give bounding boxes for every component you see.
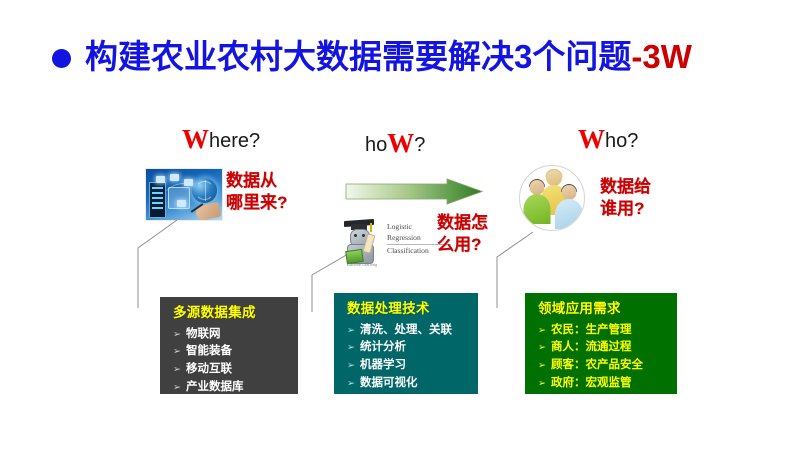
arrow-bullet-icon: ➢ — [347, 343, 355, 353]
list-item-label: 政府：宏观监管 — [551, 375, 632, 393]
page-title: 构建农业农村大数据需要解决3个问题-3W — [52, 40, 692, 73]
ml-caption: Machine Learning — [337, 263, 387, 267]
data-node-icon — [184, 179, 193, 186]
ml-term-logistic: Logistic — [387, 222, 412, 231]
list-item: ➢政府：宏观监管 — [538, 375, 666, 393]
callout-where: 数据从 哪里来? — [226, 170, 287, 214]
title-text: 构建农业农村大数据需要解决3个问题-3W — [85, 40, 692, 73]
list-item-label: 数据可视化 — [360, 375, 418, 393]
list-item: ➢产业数据库 — [173, 379, 287, 397]
arrow-bullet-icon: ➢ — [538, 343, 546, 353]
who-rest: ho? — [605, 130, 638, 152]
arrow-bullet-icon: ➢ — [347, 361, 355, 371]
callout-how-line2: 么用? — [437, 234, 488, 256]
list-item: ➢商人：流通过程 — [538, 339, 666, 357]
list-item: ➢物联网 — [173, 326, 287, 344]
list-item-label: 智能装备 — [186, 343, 232, 361]
list-item-label: 顾客：农产品安全 — [551, 357, 643, 375]
list-item: ➢移动互联 — [173, 361, 287, 379]
ml-term-classification: Classification — [387, 246, 429, 255]
box-data-processing-tech: 数据处理技术 ➢清洗、处理、关联 ➢统计分析 ➢机器学习 ➢数据可视化 — [334, 293, 478, 394]
avatar — [524, 180, 550, 222]
callout-how-line1: 数据怎 — [437, 212, 488, 234]
green-gradient-arrow — [345, 178, 483, 205]
list-item: ➢统计分析 — [347, 339, 467, 357]
title-main: 构建农业农村大数据需要解决3个问题 — [85, 38, 631, 75]
users-avatar-group — [519, 165, 585, 231]
list-item-label: 统计分析 — [360, 339, 406, 357]
list-item: ➢智能装备 — [173, 343, 287, 361]
list-item-label: 产业数据库 — [186, 379, 244, 397]
robot-eye — [354, 234, 357, 237]
data-node-icon — [156, 176, 165, 183]
graduate-robot-icon — [339, 220, 381, 265]
server-rack-icon — [149, 182, 166, 218]
arrow-bullet-icon: ➢ — [347, 379, 355, 389]
robot-eye — [362, 234, 365, 237]
list-item-label: 清洗、处理、关联 — [360, 322, 452, 340]
how-big-w: W — [387, 128, 414, 158]
data-node-icon — [177, 200, 186, 207]
label-how: hoW? — [365, 130, 425, 157]
how-prefix: ho — [365, 134, 387, 156]
list-item: ➢农民：生产管理 — [538, 322, 666, 340]
callout-where-line2: 哪里来? — [226, 192, 287, 214]
list-item: ➢顾客：农产品安全 — [538, 357, 666, 375]
avatar-head — [562, 185, 577, 200]
globe-icon — [192, 178, 217, 203]
box-sources-list: ➢物联网 ➢智能装备 ➢移动互联 ➢产业数据库 — [173, 326, 287, 396]
bullet-icon — [52, 49, 71, 68]
machine-learning-image: Machine Learning Logistic Regression Cla… — [337, 219, 450, 269]
box-process-title: 数据处理技术 — [347, 302, 467, 317]
where-rest: here? — [209, 130, 260, 152]
label-where: Where? — [182, 126, 260, 153]
list-item-label: 商人：流通过程 — [551, 339, 632, 357]
box-sources-title: 多源数据集成 — [173, 306, 287, 321]
list-item: ➢机器学习 — [347, 357, 467, 375]
box-multi-source-integration: 多源数据集成 ➢物联网 ➢智能装备 ➢移动互联 ➢产业数据库 — [160, 297, 298, 394]
list-item-label: 物联网 — [186, 326, 221, 344]
box-domain-application-needs: 领域应用需求 ➢农民：生产管理 ➢商人：流通过程 ➢顾客：农产品安全 ➢政府：宏… — [525, 293, 677, 394]
who-big-w: W — [578, 124, 605, 154]
list-item-label: 机器学习 — [360, 357, 406, 375]
arrow-bullet-icon: ➢ — [538, 379, 546, 389]
list-item: ➢清洗、处理、关联 — [347, 322, 467, 340]
box-apps-list: ➢农民：生产管理 ➢商人：流通过程 ➢顾客：农产品安全 ➢政府：宏观监管 — [538, 322, 666, 392]
avatar-torso — [524, 194, 551, 224]
how-rest: ? — [414, 134, 425, 156]
avatar-head — [530, 180, 545, 195]
book-icon — [345, 249, 364, 264]
data-sources-image — [146, 169, 222, 220]
avatar — [556, 185, 582, 227]
label-who: Who? — [578, 126, 638, 153]
callout-how: 数据怎 么用? — [437, 212, 488, 256]
slide-canvas: 构建农业农村大数据需要解决3个问题-3W Where? hoW? Who? 数据… — [0, 0, 800, 450]
callout-who-line2: 谁用? — [600, 198, 651, 220]
arrow-bullet-icon: ➢ — [173, 330, 181, 340]
box-apps-title: 领域应用需求 — [538, 302, 666, 317]
callout-who-line1: 数据给 — [600, 176, 651, 198]
arrow-bullet-icon: ➢ — [347, 326, 355, 336]
box-process-list: ➢清洗、处理、关联 ➢统计分析 ➢机器学习 ➢数据可视化 — [347, 322, 467, 392]
arrow-bullet-icon: ➢ — [173, 347, 181, 357]
title-suffix: -3W — [631, 38, 692, 75]
where-big-w: W — [182, 124, 209, 154]
callout-where-line1: 数据从 — [226, 170, 287, 192]
callout-who: 数据给 谁用? — [600, 176, 651, 220]
list-item-label: 农民：生产管理 — [551, 322, 632, 340]
tassel-icon — [370, 223, 372, 232]
avatar-torso — [555, 199, 583, 229]
arrow-bullet-icon: ➢ — [173, 383, 181, 393]
list-item: ➢数据可视化 — [347, 375, 467, 393]
arrow-bullet-icon: ➢ — [538, 326, 546, 336]
data-node-icon — [170, 174, 179, 181]
arrow-bullet-icon: ➢ — [173, 365, 181, 375]
arrow-bullet-icon: ➢ — [538, 361, 546, 371]
list-item-label: 移动互联 — [186, 361, 232, 379]
